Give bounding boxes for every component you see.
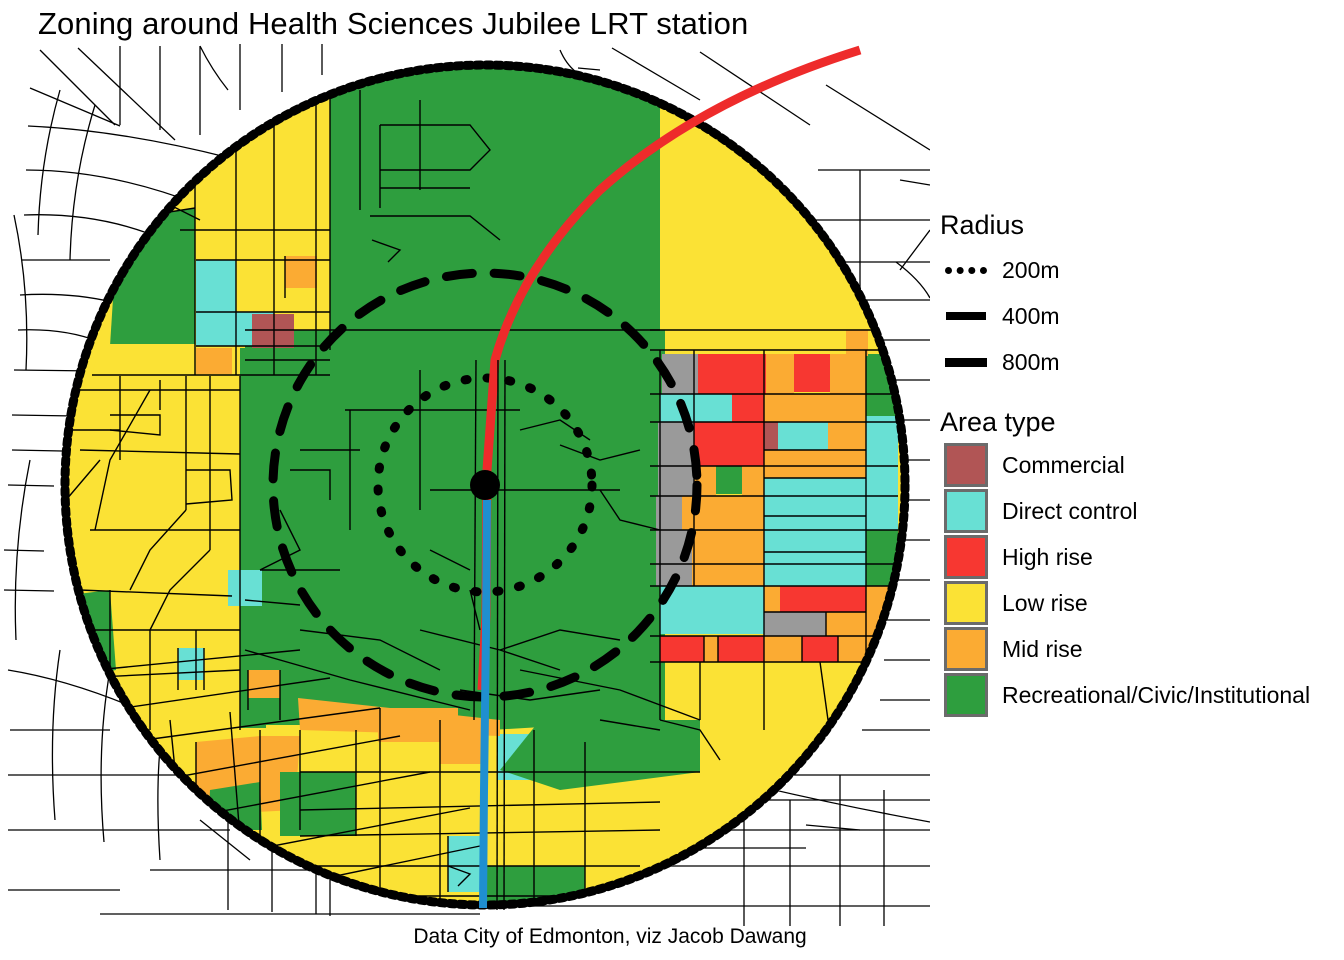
zone-other-e-r4	[658, 466, 694, 496]
zone-dc-s-2	[448, 836, 482, 892]
zone-highrise-e-r9b	[718, 636, 764, 662]
zone-highrise-e-r9a	[660, 636, 704, 662]
legend-areatype-section: Area type Commercial Direct control High…	[930, 407, 1344, 718]
dashed-line-icon	[930, 312, 1002, 320]
legend-radius-title: Radius	[940, 210, 1344, 241]
zone-commercial-nw	[252, 314, 294, 348]
zone-midrise-nw	[285, 256, 317, 288]
zone-highrise-e-r1b	[794, 354, 830, 392]
swatch-mid-rise-icon	[930, 627, 1002, 671]
swatch-commercial-icon	[930, 443, 1002, 487]
legend-label-high-rise: High rise	[1002, 544, 1093, 571]
legend-item-recreational[interactable]: Recreational/Civic/Institutional	[930, 672, 1344, 718]
zone-other-e-r8b	[764, 612, 826, 636]
zone-midrise-e-r8b	[826, 612, 866, 636]
legend-label-low-rise: Low rise	[1002, 590, 1088, 617]
station-point[interactable]	[470, 470, 500, 500]
zone-midrise-e-r2	[764, 394, 866, 422]
zone-dc-e-edge1	[866, 416, 898, 478]
zone-midrise-e-r9a	[704, 636, 718, 662]
zone-midrise-e-r6	[692, 530, 764, 564]
zone-midrise-e-r3a	[828, 422, 866, 450]
swatch-low-rise-icon	[930, 581, 1002, 625]
zone-midrise-e-r7	[692, 564, 764, 586]
zone-institutional-sw-4	[280, 772, 356, 836]
zoning-map-svg[interactable]	[0, 30, 930, 930]
zone-highrise-e-r2	[732, 394, 764, 422]
zone-highrise-e-r3	[694, 422, 764, 466]
dotted-line-icon	[930, 267, 1002, 274]
zone-midrise-e-r9b	[764, 636, 802, 662]
legend-areatype-title: Area type	[940, 407, 1344, 438]
zone-midrise-e-r1b	[830, 354, 866, 394]
legend-label-800m: 800m	[1002, 349, 1060, 376]
legend-item-400m[interactable]: 400m	[930, 293, 1344, 339]
caption-text: Data City of Edmonton, viz Jacob Dawang	[413, 925, 806, 949]
legend-label-recreational: Recreational/Civic/Institutional	[1002, 682, 1310, 709]
caption: Data City of Edmonton, viz Jacob Dawang	[0, 925, 1344, 949]
zone-dc-e-r2	[660, 394, 732, 422]
zone-midrise-e-r4b	[742, 466, 764, 496]
zone-lowrise-w-strip	[92, 344, 195, 375]
legend-label-commercial: Commercial	[1002, 452, 1125, 479]
swatch-direct-control-icon	[930, 489, 1002, 533]
zone-dc-e-r6	[764, 552, 866, 586]
zone-dc-e-edge2	[866, 478, 898, 520]
zone-midrise-e-r1a	[766, 354, 794, 394]
legend-panel: Radius 200m 400m 800m Ar	[930, 210, 1344, 718]
legend-label-400m: 400m	[1002, 303, 1060, 330]
zone-midrise-sw-1	[248, 670, 280, 698]
legend-item-commercial[interactable]: Commercial	[930, 442, 1344, 488]
zone-dc-e-r4	[764, 478, 866, 516]
swatch-high-rise-icon	[930, 535, 1002, 579]
legend-item-200m[interactable]: 200m	[930, 247, 1344, 293]
legend-item-direct-control[interactable]: Direct control	[930, 488, 1344, 534]
legend-label-200m: 200m	[1002, 257, 1060, 284]
zone-dc-e-r3	[778, 422, 828, 450]
zone-highrise-e-r1	[698, 354, 766, 394]
map-canvas[interactable]	[0, 30, 930, 930]
swatch-recreational-icon	[930, 673, 1002, 717]
legend-label-direct-control: Direct control	[1002, 498, 1137, 525]
legend-radius-rows: 200m 400m 800m	[930, 247, 1344, 385]
legend-label-mid-rise: Mid rise	[1002, 636, 1083, 663]
legend-item-low-rise[interactable]: Low rise	[930, 580, 1344, 626]
zone-highrise-e-r8	[780, 586, 866, 612]
zone-midrise-e-top	[846, 330, 868, 356]
legend-item-mid-rise[interactable]: Mid rise	[930, 626, 1344, 672]
legend-item-800m[interactable]: 800m	[930, 339, 1344, 385]
zone-midrise-e-r8a	[764, 586, 780, 612]
zone-midrise-nw-2	[196, 348, 232, 374]
zone-institutional-sw-2	[95, 765, 165, 825]
legend-item-high-rise[interactable]: High rise	[930, 534, 1344, 580]
zone-highrise-e-r9c	[802, 636, 838, 662]
zone-dc-sw	[178, 648, 204, 680]
zone-dc-e-r8	[660, 586, 764, 634]
zone-commercial-e	[764, 422, 778, 450]
transit-line-blue	[483, 500, 487, 908]
solid-line-icon	[930, 358, 1002, 367]
zone-midrise-e-r3b	[764, 450, 866, 478]
zoning-polygons	[0, 30, 930, 930]
zone-institutional-e-r4	[716, 466, 742, 494]
zone-dc-e-r5	[764, 516, 866, 552]
